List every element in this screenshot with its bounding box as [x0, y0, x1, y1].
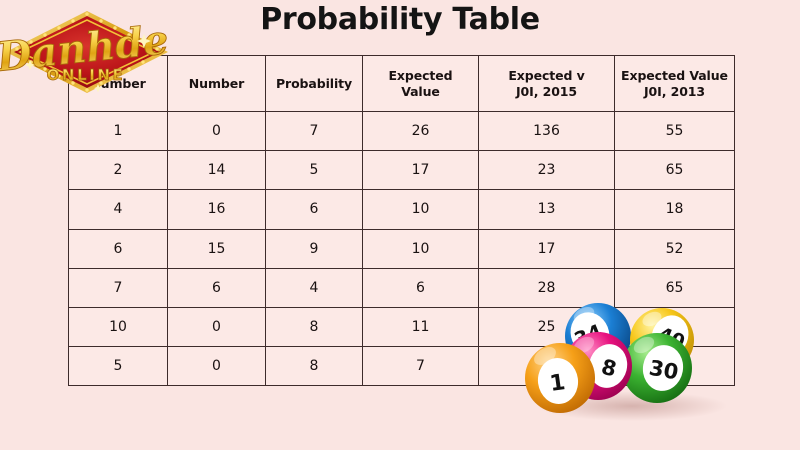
- cell: 0: [168, 112, 266, 151]
- column-header-expected-value-2013: Expected Value J0I, 2013: [615, 56, 735, 112]
- cell: 15: [168, 229, 266, 268]
- cell: 55: [615, 112, 735, 151]
- cell: 4: [266, 268, 363, 307]
- header-line-1: Expected Value: [621, 68, 728, 83]
- column-header-number-1: Number: [69, 56, 168, 112]
- cell: 8: [266, 347, 363, 386]
- table-row: 7 6 4 6 28 65: [69, 268, 735, 307]
- cell: 11: [363, 307, 479, 346]
- header-line-1: Expected: [388, 68, 452, 83]
- column-header-probability: Probability: [266, 56, 363, 112]
- cell: 10: [363, 229, 479, 268]
- cell: 23: [479, 151, 615, 190]
- cell: 5: [69, 347, 168, 386]
- cell: 10: [69, 307, 168, 346]
- cell: 6: [266, 190, 363, 229]
- table-row: 6 15 9 10 17 52: [69, 229, 735, 268]
- cell: 136: [479, 112, 615, 151]
- cell: 25: [479, 307, 615, 346]
- ball-shadow: [537, 391, 727, 421]
- table-row: 5 0 8 7 23: [69, 347, 735, 386]
- column-header-expected-v-2015: Expected v J0I, 2015: [479, 56, 615, 112]
- cell: 8: [266, 307, 363, 346]
- header-line-2: J0I, 2013: [644, 84, 705, 99]
- table-header-row: Number Number Probability Expected Value…: [69, 56, 735, 112]
- cell: 65: [615, 268, 735, 307]
- header-line-1: Probability: [276, 76, 352, 91]
- table-row: 2 14 5 17 23 65: [69, 151, 735, 190]
- cell: 6: [168, 268, 266, 307]
- header-line-2: J0I, 2015: [516, 84, 577, 99]
- cell: 5: [266, 151, 363, 190]
- cell: 17: [363, 151, 479, 190]
- table-row: 10 0 8 11 25: [69, 307, 735, 346]
- page-title: Probability Table: [0, 2, 800, 37]
- header-line-1: Number: [189, 76, 244, 91]
- table-row: 1 0 7 26 136 55: [69, 112, 735, 151]
- cell: 6: [69, 229, 168, 268]
- table-row: 4 16 6 10 13 18: [69, 190, 735, 229]
- cell: 9: [266, 229, 363, 268]
- cell: 16: [168, 190, 266, 229]
- cell: 13: [479, 190, 615, 229]
- cell: 52: [615, 229, 735, 268]
- cell: 28: [479, 268, 615, 307]
- header-line-2: Value: [401, 84, 440, 99]
- column-header-expected-value: Expected Value: [363, 56, 479, 112]
- cell: [615, 347, 735, 386]
- cell: 6: [363, 268, 479, 307]
- cell: 0: [168, 307, 266, 346]
- cell: 26: [363, 112, 479, 151]
- cell: 7: [69, 268, 168, 307]
- cell: [615, 307, 735, 346]
- cell: 23: [479, 347, 615, 386]
- cell: 7: [363, 347, 479, 386]
- column-header-number-2: Number: [168, 56, 266, 112]
- probability-table: Number Number Probability Expected Value…: [68, 55, 735, 386]
- cell: 17: [479, 229, 615, 268]
- cell: 14: [168, 151, 266, 190]
- cell: 18: [615, 190, 735, 229]
- cell: 1: [69, 112, 168, 151]
- cell: 2: [69, 151, 168, 190]
- cell: 10: [363, 190, 479, 229]
- cell: 0: [168, 347, 266, 386]
- header-line-1: Number: [90, 76, 145, 91]
- cell: 7: [266, 112, 363, 151]
- header-line-1: Expected v: [508, 68, 584, 83]
- cell: 4: [69, 190, 168, 229]
- cell: 65: [615, 151, 735, 190]
